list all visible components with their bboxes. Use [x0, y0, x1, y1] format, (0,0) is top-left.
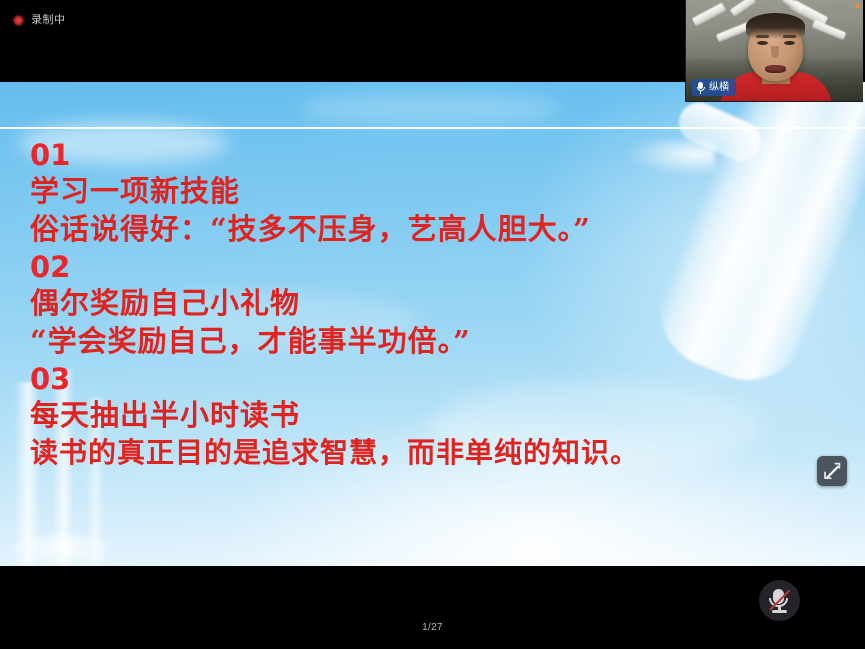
section-quote: 俗话说得好：“技多不压身，艺高人胆大。”: [30, 210, 820, 248]
ceiling-light: [812, 20, 847, 40]
section-heading: 学习一项新技能: [30, 172, 820, 210]
section-heading: 每天抽出半小时读书: [30, 396, 820, 434]
participant-name-badge: 纵横: [692, 79, 736, 96]
person-hair: [746, 13, 805, 39]
section-quote: 读书的真正目的是追求智慧，而非单纯的知识。: [30, 434, 820, 472]
annotate-button[interactable]: [817, 456, 847, 486]
cloud-wisp: [300, 92, 560, 126]
ceiling-light: [730, 0, 756, 17]
section-quote: “学会奖励自己，才能事半功倍。”: [30, 322, 820, 360]
section-number: 02: [30, 250, 820, 284]
person-eyebrow: [756, 35, 769, 38]
person-eyebrow: [783, 35, 796, 38]
slide-text-content: 01 学习一项新技能 俗话说得好：“技多不压身，艺高人胆大。” 02 偶尔奖励自…: [30, 138, 820, 474]
shared-slide[interactable]: 01 学习一项新技能 俗话说得好：“技多不压身，艺高人胆大。” 02 偶尔奖励自…: [0, 82, 865, 566]
person-eye: [757, 41, 768, 45]
participant-video-thumbnail[interactable]: 纵横: [685, 0, 863, 102]
person-nose: [771, 46, 779, 58]
recording-label: 录制中: [31, 14, 66, 26]
slide-divider-rule: [0, 127, 865, 129]
record-dot-icon: [13, 15, 24, 26]
section-number: 03: [30, 362, 820, 396]
person-mouth: [765, 65, 786, 73]
recording-indicator: 录制中: [13, 14, 66, 26]
slide-section-3: 03 每天抽出半小时读书 读书的真正目的是追求智慧，而非单纯的知识。: [30, 362, 820, 472]
microphone-mute-button[interactable]: [759, 580, 800, 621]
page-indicator: 1/27: [0, 622, 865, 634]
section-heading: 偶尔奖励自己小礼物: [30, 284, 820, 322]
person-eye: [784, 41, 795, 45]
participant-name: 纵横: [709, 82, 729, 93]
video-status-dot-icon: [855, 3, 860, 8]
section-number: 01: [30, 138, 820, 172]
microphone-icon: [696, 82, 705, 94]
pencil-annotate-icon: [821, 460, 843, 482]
bottom-control-bar: 1/27: [0, 566, 865, 649]
screen-share-viewer: 录制中 纵横: [0, 0, 865, 649]
glass-base-decor: [6, 534, 118, 566]
slide-section-2: 02 偶尔奖励自己小礼物 “学会奖励自己，才能事半功倍。”: [30, 250, 820, 360]
slide-section-1: 01 学习一项新技能 俗话说得好：“技多不压身，艺高人胆大。”: [30, 138, 820, 248]
ceiling-light: [692, 3, 726, 27]
